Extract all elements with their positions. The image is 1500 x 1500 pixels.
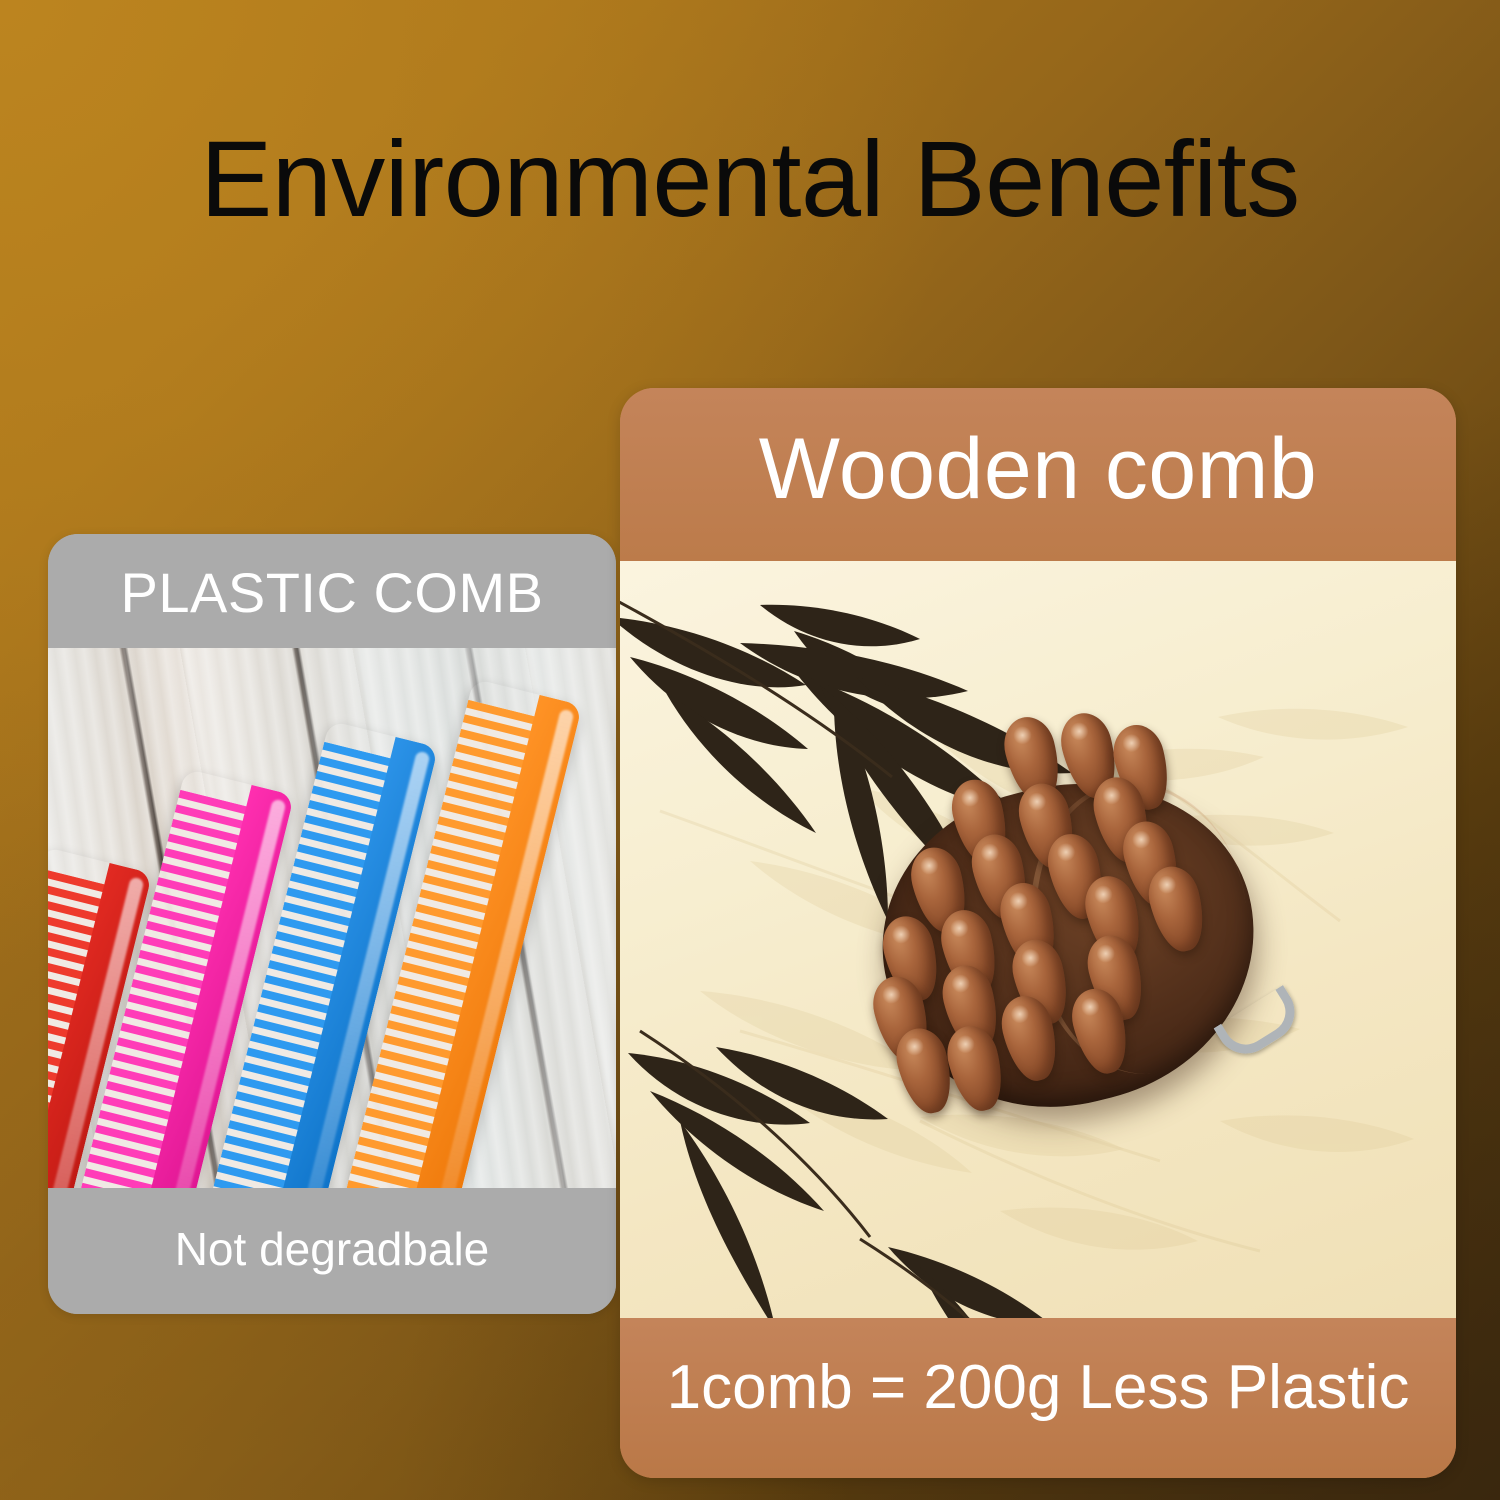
plastic-comb-card: PLASTIC COMB (48, 534, 616, 1314)
plastic-combs-photo (48, 648, 616, 1188)
wooden-card-caption: 1comb = 200g Less Plastic (620, 1318, 1456, 1478)
plastic-card-caption: Not degradbale (48, 1188, 616, 1314)
wooden-card-caption-label: 1comb = 200g Less Plastic (620, 1352, 1456, 1423)
wooden-comb-card: Wooden comb (620, 388, 1456, 1478)
plastic-card-header: PLASTIC COMB (48, 534, 616, 648)
infographic-canvas: Environmental Benefits PLASTIC COMB (0, 0, 1500, 1500)
wooden-card-header-label: Wooden comb (620, 420, 1456, 519)
plastic-card-header-label: PLASTIC COMB (48, 560, 616, 625)
plastic-card-caption-label: Not degradbale (48, 1222, 616, 1276)
wooden-card-header: Wooden comb (620, 388, 1456, 561)
wooden-comb-photo (620, 561, 1456, 1318)
page-title: Environmental Benefits (0, 122, 1500, 235)
